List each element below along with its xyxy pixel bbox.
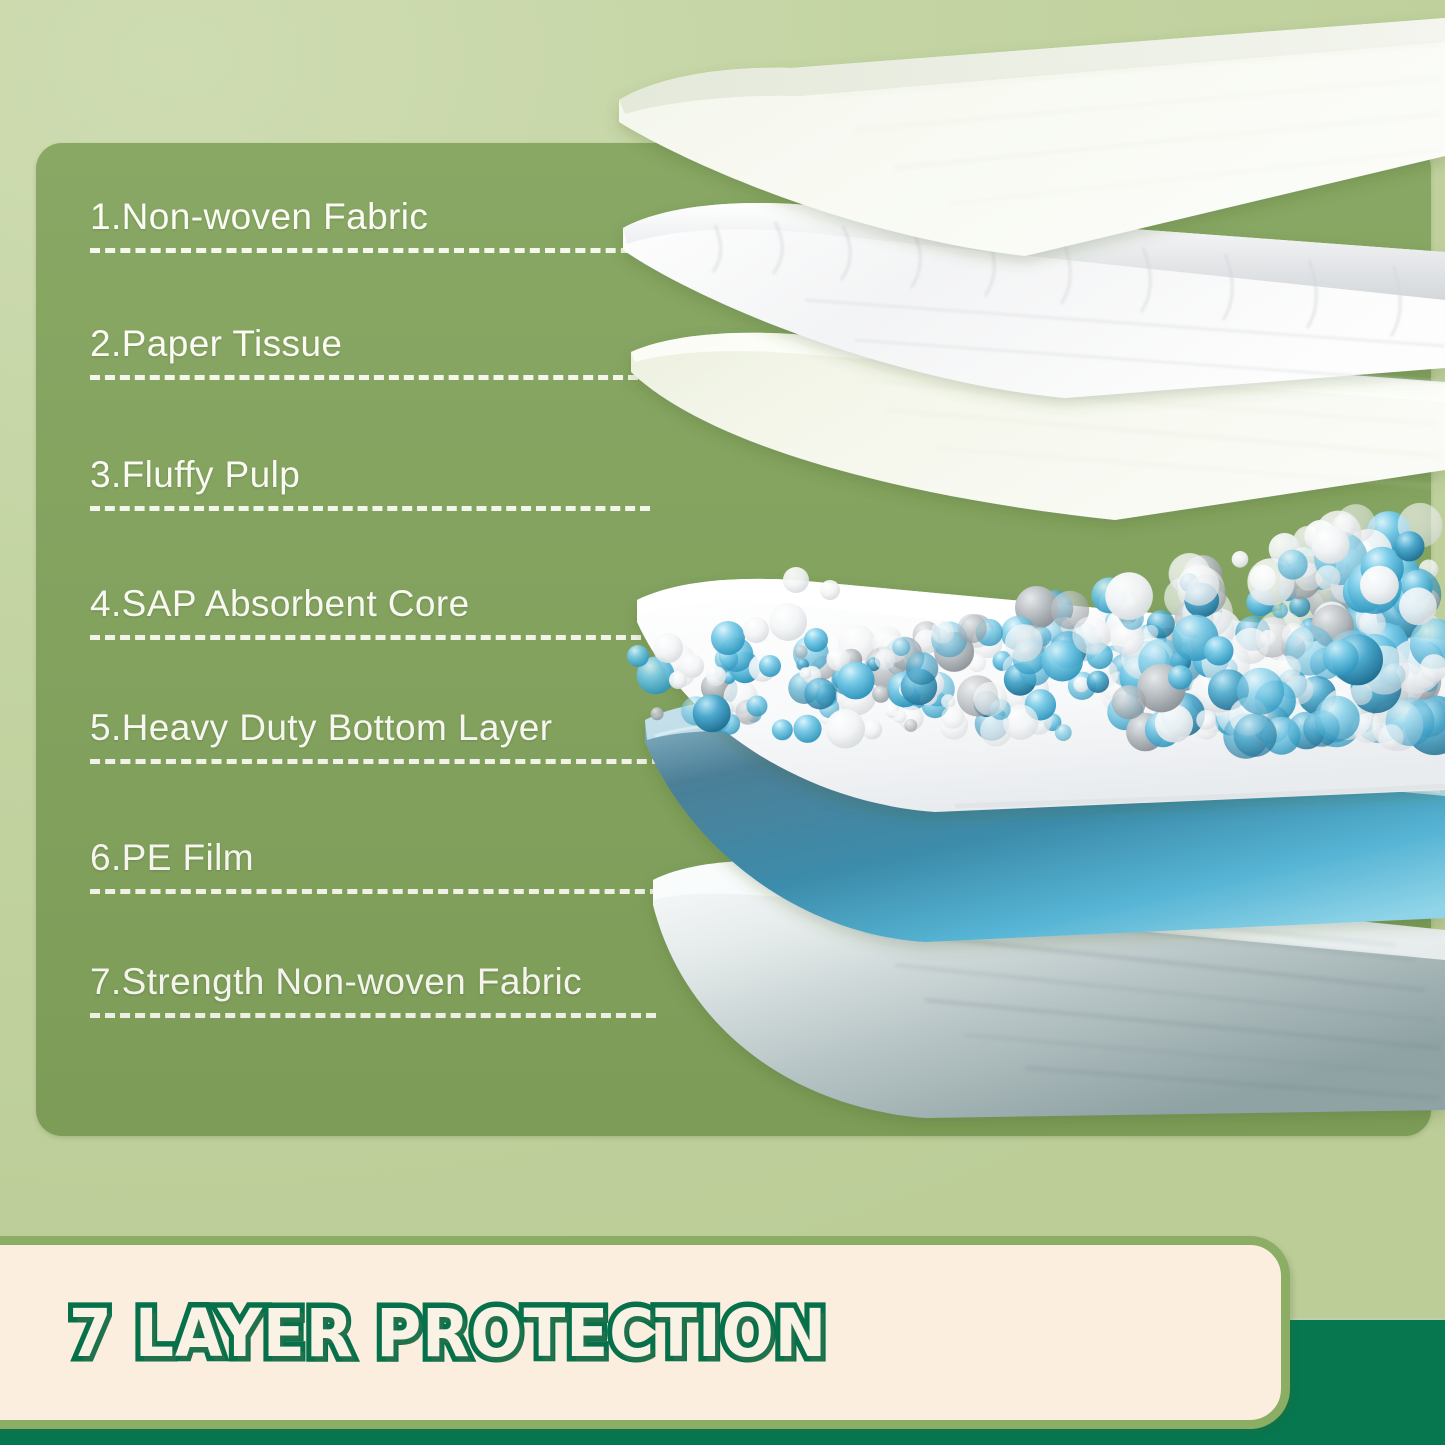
- layer-row-7: 7.Strength Non-woven Fabric: [90, 963, 700, 1018]
- protection-banner: 7 LAYER PROTECTION: [0, 1236, 1290, 1429]
- layer-label-5: 5.Heavy Duty Bottom Layer: [90, 709, 700, 748]
- banner-title: 7 LAYER PROTECTION: [69, 1295, 827, 1372]
- layer-row-5: 5.Heavy Duty Bottom Layer: [90, 709, 700, 764]
- layer-row-2: 2.Paper Tissue: [90, 325, 700, 380]
- layer-label-6: 6.PE Film: [90, 839, 700, 878]
- layer-row-6: 6.PE Film: [90, 839, 700, 894]
- layer-leader-line-1: [90, 248, 646, 253]
- layer-list-panel: 1.Non-woven Fabric 2.Paper Tissue 3.Fluf…: [36, 143, 1431, 1136]
- layer-label-3: 3.Fluffy Pulp: [90, 456, 700, 495]
- layer-leader-line-4: [90, 635, 656, 640]
- layer-label-4: 4.SAP Absorbent Core: [90, 585, 700, 624]
- layer-leader-line-6: [90, 889, 660, 894]
- layer-row-3: 3.Fluffy Pulp: [90, 456, 700, 511]
- layer-leader-line-7: [90, 1013, 656, 1018]
- layer-leader-line-5: [90, 759, 662, 764]
- layer-label-7: 7.Strength Non-woven Fabric: [90, 963, 700, 1002]
- layer-leader-line-3: [90, 506, 650, 511]
- layer-row-1: 1.Non-woven Fabric: [90, 198, 700, 253]
- layer-leader-line-2: [90, 375, 638, 380]
- layer-label-2: 2.Paper Tissue: [90, 325, 700, 364]
- layer-row-4: 4.SAP Absorbent Core: [90, 585, 700, 640]
- layer-label-1: 1.Non-woven Fabric: [90, 198, 700, 237]
